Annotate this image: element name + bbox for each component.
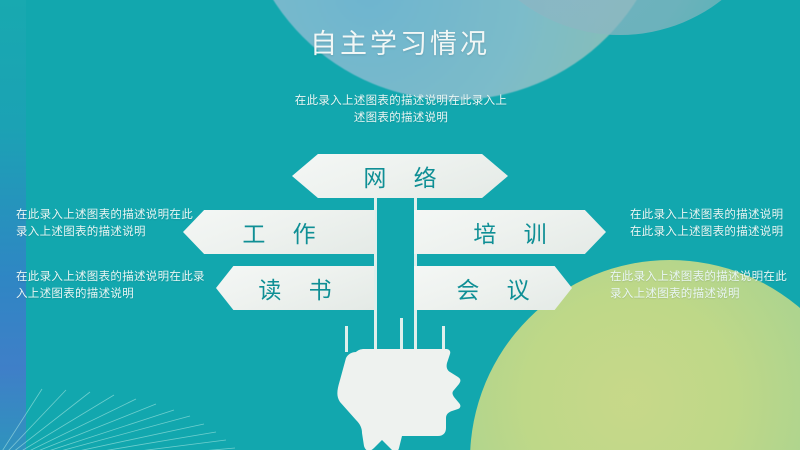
banner-work-label: 工 作 [232,215,325,249]
decorative-fan-lines [0,320,240,450]
caption-right-lower: 在此录入上述图表的描述说明在此录入上述图表的描述说明 [610,268,796,302]
caption-left-lower: 在此录入上述图表的描述说明在此录入上述图表的描述说明 [16,268,206,302]
caption-left-upper: 在此录入上述图表的描述说明在此录入上述图表的描述说明 [16,206,194,240]
banner-training[interactable]: 培 训 [414,210,606,254]
banner-meeting-label: 会 议 [446,271,539,305]
banner-training-label: 培 训 [463,215,556,249]
banner-meeting[interactable]: 会 议 [414,266,572,310]
banner-reading[interactable]: 读 书 [216,266,374,310]
banner-reading-label: 读 书 [248,271,341,305]
banner-network-label: 网 络 [353,159,446,193]
slide-canvas: 自主学习情况 在此录入上述图表的描述说明在此录入上述图表的描述说明 在此录入上述… [0,0,800,450]
banner-network[interactable]: 网 络 [292,154,508,198]
banner-work[interactable]: 工 作 [183,210,375,254]
page-title: 自主学习情况 [0,22,800,61]
human-head-silhouette-icon [330,334,494,450]
caption-right-upper: 在此录入上述图表的描述说明在此录入上述图表的描述说明 [630,206,790,240]
caption-top: 在此录入上述图表的描述说明在此录入上述图表的描述说明 [292,92,510,126]
